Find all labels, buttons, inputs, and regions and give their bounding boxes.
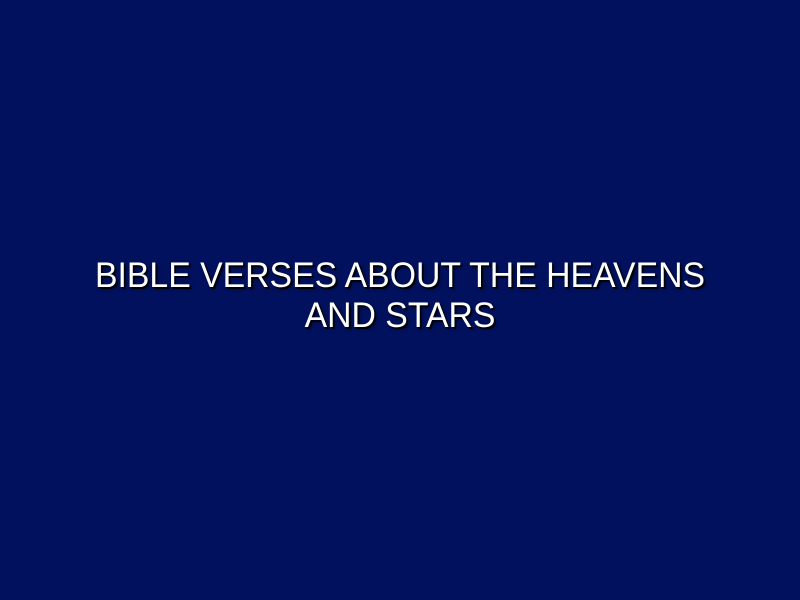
title-block: BIBLE VERSES ABOUT THE HEAVENS AND STARS <box>50 256 750 336</box>
title-card: BIBLE VERSES ABOUT THE HEAVENS AND STARS <box>0 0 800 600</box>
page-title: BIBLE VERSES ABOUT THE HEAVENS AND STARS <box>62 256 738 336</box>
